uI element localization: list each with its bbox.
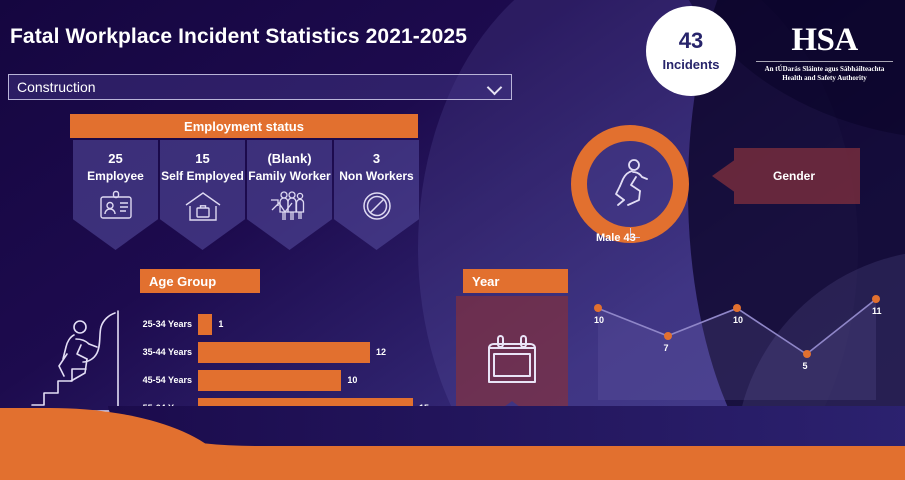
age-bar-label: 35-44 Years [134,347,198,357]
year-banner-label: Year [472,274,499,289]
employment-status-banner: Employment status [70,114,418,138]
employment-status-cards: 25 Employee 15 Self Employed [72,140,420,250]
gender-caption: Male 43 [596,232,726,244]
employment-label: Family Worker [248,168,330,185]
age-group-banner: Age Group [140,269,260,293]
employment-card-self-employed[interactable]: 15 Self Employed [160,140,245,250]
year-data-label: 10 [733,315,743,325]
kpi-label: Incidents [662,57,719,72]
age-bar[interactable] [198,314,212,335]
hsa-logo-english-text: Health and Safety Authority [752,74,897,83]
age-bar-label: 45-54 Years [134,375,198,385]
age-bar-value: 10 [347,375,357,385]
year-area-fill [598,299,876,400]
family-group-icon [269,190,311,227]
employment-count: (Blank) [267,150,311,168]
employment-status-banner-label: Employment status [184,119,304,134]
running-person-icon [607,157,653,212]
gender-banner-label: Gender [773,169,815,183]
page-title: Fatal Workplace Incident Statistics 2021… [10,25,467,49]
employment-count: 15 [195,150,209,168]
employment-label: Employee [87,168,144,185]
hsa-logo-mark: HSA [752,24,897,57]
age-bar-value: 1 [218,319,223,329]
stair-climber-icon [18,305,128,422]
age-bar[interactable] [198,370,341,391]
hsa-logo: HSA An tÚDarás Sláinte agus Sábháilteach… [752,24,897,84]
employment-count: 25 [108,150,122,168]
year-data-label: 10 [594,315,604,325]
dashboard-canvas: Fatal Workplace Incident Statistics 2021… [0,0,905,480]
age-group-banner-label: Age Group [149,274,216,289]
sector-dropdown[interactable]: Construction [8,74,512,100]
id-badge-icon [99,190,133,225]
kpi-value: 43 [679,30,703,52]
employment-card-family-worker[interactable]: (Blank) Family Worker [247,140,332,250]
sector-dropdown-value: Construction [17,79,487,95]
logo-divider [756,61,893,62]
employment-card-employee[interactable]: 25 Employee [73,140,158,250]
gender-banner: Gender [712,148,860,204]
gender-ring-chart [571,125,689,243]
age-bar-value: 12 [376,347,386,357]
age-bar-row[interactable]: 45-54 Years10 [134,366,434,394]
prohibition-icon [361,190,393,227]
age-bar[interactable] [198,342,370,363]
age-bar-row[interactable]: 25-34 Years1 [134,310,434,338]
employment-count: 3 [373,150,380,168]
bottom-navy-shape [108,406,905,446]
chevron-down-icon [487,79,503,95]
employment-label: Non Workers [339,168,413,185]
calendar-icon [484,334,540,391]
year-data-point[interactable] [664,332,672,340]
employment-card-non-workers[interactable]: 3 Non Workers [334,140,419,250]
year-data-label: 7 [664,343,669,353]
incident-kpi-card: 43 Incidents [646,6,736,96]
year-data-point[interactable] [803,350,811,358]
hsa-logo-irish-text: An tÚDarás Sláinte agus Sábháilteachta [752,65,897,74]
year-banner: Year [463,269,568,293]
year-data-label: 5 [803,361,808,371]
age-bar-row[interactable]: 35-44 Years12 [134,338,434,366]
home-briefcase-icon [183,190,223,227]
employment-label: Self Employed [161,168,244,185]
age-bar-label: 25-34 Years [134,319,198,329]
year-data-label: 11 [872,306,882,316]
